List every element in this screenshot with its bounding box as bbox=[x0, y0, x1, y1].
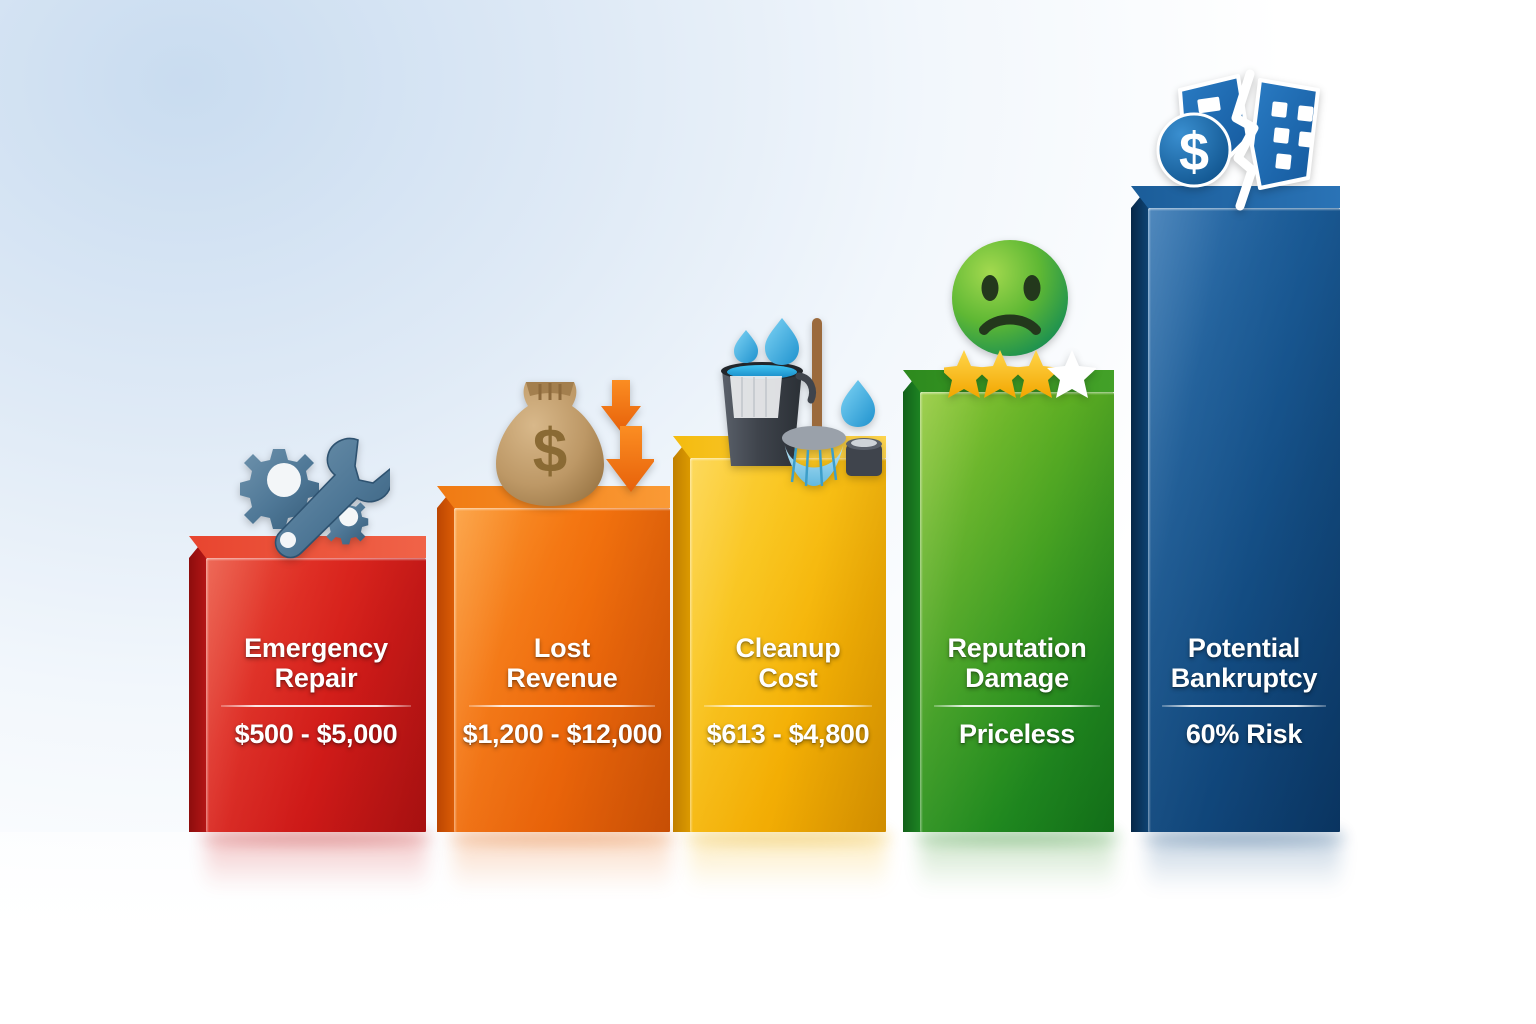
bar-lost-revenue[interactable]: Lost Revenue $1,200 - $12,000 bbox=[454, 508, 670, 832]
bar-title-line-1: Potential bbox=[1156, 634, 1333, 664]
bar-potential-bankruptcy[interactable]: Potential Bankruptcy 60% Risk bbox=[1148, 208, 1340, 832]
bar-value: $500 - $5,000 bbox=[215, 720, 417, 750]
bar-left-highlight bbox=[920, 392, 923, 832]
bar-left-highlight bbox=[690, 458, 693, 832]
dollar-coin: $ bbox=[1158, 114, 1230, 186]
bar-title: Reputation Damage bbox=[928, 634, 1107, 693]
bar-divider-rule bbox=[934, 705, 1101, 707]
bar-title-line-1: Reputation bbox=[928, 634, 1107, 664]
bar-reflection-emergency-repair bbox=[206, 833, 426, 891]
bar-title-line-2: Repair bbox=[215, 664, 417, 694]
bar-title-line-1: Cleanup bbox=[698, 634, 878, 664]
bar-reflection-lost-revenue bbox=[454, 833, 670, 891]
mop-handle bbox=[812, 318, 822, 440]
bucket-shape bbox=[721, 362, 813, 466]
bar-title-line-2: Revenue bbox=[463, 664, 662, 694]
bucket-mop-icon bbox=[700, 316, 888, 502]
chart-stage: Emergency Repair $500 - $5,000 bbox=[0, 0, 1536, 1024]
bar-title: Lost Revenue bbox=[463, 634, 662, 693]
building-right-fragment bbox=[1252, 80, 1318, 188]
bar-reflection-reputation-damage bbox=[920, 833, 1114, 891]
bar-side-face bbox=[673, 436, 691, 832]
money-bag-shape: $ bbox=[496, 382, 604, 506]
bar-title: Emergency Repair bbox=[215, 634, 417, 693]
bar-left-highlight bbox=[454, 508, 457, 832]
sad-face-stars-icon bbox=[944, 238, 1096, 402]
wrench-gear-icon bbox=[240, 432, 390, 564]
money-bag-down-arrows-icon: $ bbox=[496, 368, 654, 514]
bar-value: $613 - $4,800 bbox=[698, 720, 878, 750]
bar-cleanup-cost[interactable]: Cleanup Cost $613 - $4,800 bbox=[690, 458, 886, 832]
bar-divider-rule bbox=[1162, 705, 1327, 707]
bar-reflection-cleanup-cost bbox=[690, 833, 886, 891]
bar-side-face bbox=[437, 486, 455, 832]
bar-value: Priceless bbox=[928, 720, 1107, 750]
eye-left bbox=[982, 275, 999, 301]
star-empty bbox=[1047, 350, 1096, 398]
bar-value: 60% Risk bbox=[1156, 720, 1333, 750]
bar-side-face bbox=[903, 370, 921, 832]
bar-front-face bbox=[920, 392, 1114, 832]
bar-title-line-1: Lost bbox=[463, 634, 662, 664]
bar-title-line-2: Damage bbox=[928, 664, 1107, 694]
bar-divider-rule bbox=[221, 705, 411, 707]
down-arrow-large bbox=[606, 426, 654, 492]
bar-left-highlight bbox=[1148, 208, 1151, 832]
svg-text:$: $ bbox=[1179, 122, 1209, 182]
bar-value: $1,200 - $12,000 bbox=[463, 720, 662, 750]
bar-title: Cleanup Cost bbox=[698, 634, 878, 693]
bar-side-face bbox=[1131, 186, 1149, 832]
star-rating bbox=[944, 350, 1096, 398]
bar-title-line-2: Bankruptcy bbox=[1156, 664, 1333, 694]
bar-divider-rule bbox=[469, 705, 656, 707]
bar-emergency-repair[interactable]: Emergency Repair $500 - $5,000 bbox=[206, 558, 426, 832]
down-arrow-small bbox=[601, 380, 641, 432]
eye-right bbox=[1024, 275, 1041, 301]
bar-title: Potential Bankruptcy bbox=[1156, 634, 1333, 693]
bar-reputation-damage[interactable]: Reputation Damage Priceless bbox=[920, 392, 1114, 832]
bar-side-face bbox=[189, 536, 207, 832]
bar-reflection-potential-bankruptcy bbox=[1148, 833, 1340, 891]
cleaning-can bbox=[846, 438, 882, 476]
broken-building-dollar-icon: $ bbox=[1152, 66, 1338, 218]
sad-face-shape bbox=[952, 240, 1068, 356]
bar-left-highlight bbox=[206, 558, 209, 832]
bar-divider-rule bbox=[704, 705, 872, 707]
bar-title-line-1: Emergency bbox=[215, 634, 417, 664]
bar-title-line-2: Cost bbox=[698, 664, 878, 694]
svg-text:$: $ bbox=[533, 417, 567, 486]
